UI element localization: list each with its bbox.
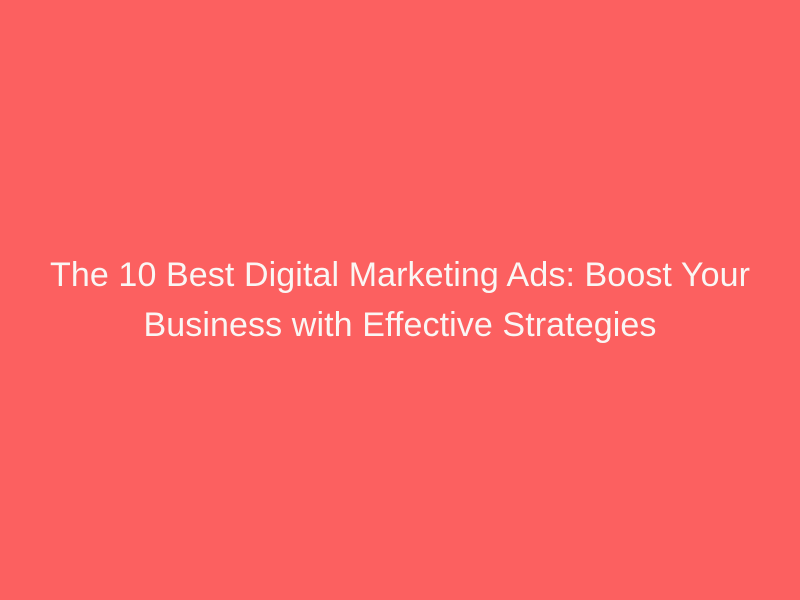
title-block: The 10 Best Digital Marketing Ads: Boost… <box>50 250 750 350</box>
article-title-card: The 10 Best Digital Marketing Ads: Boost… <box>0 0 800 600</box>
page-title: The 10 Best Digital Marketing Ads: Boost… <box>50 250 750 350</box>
